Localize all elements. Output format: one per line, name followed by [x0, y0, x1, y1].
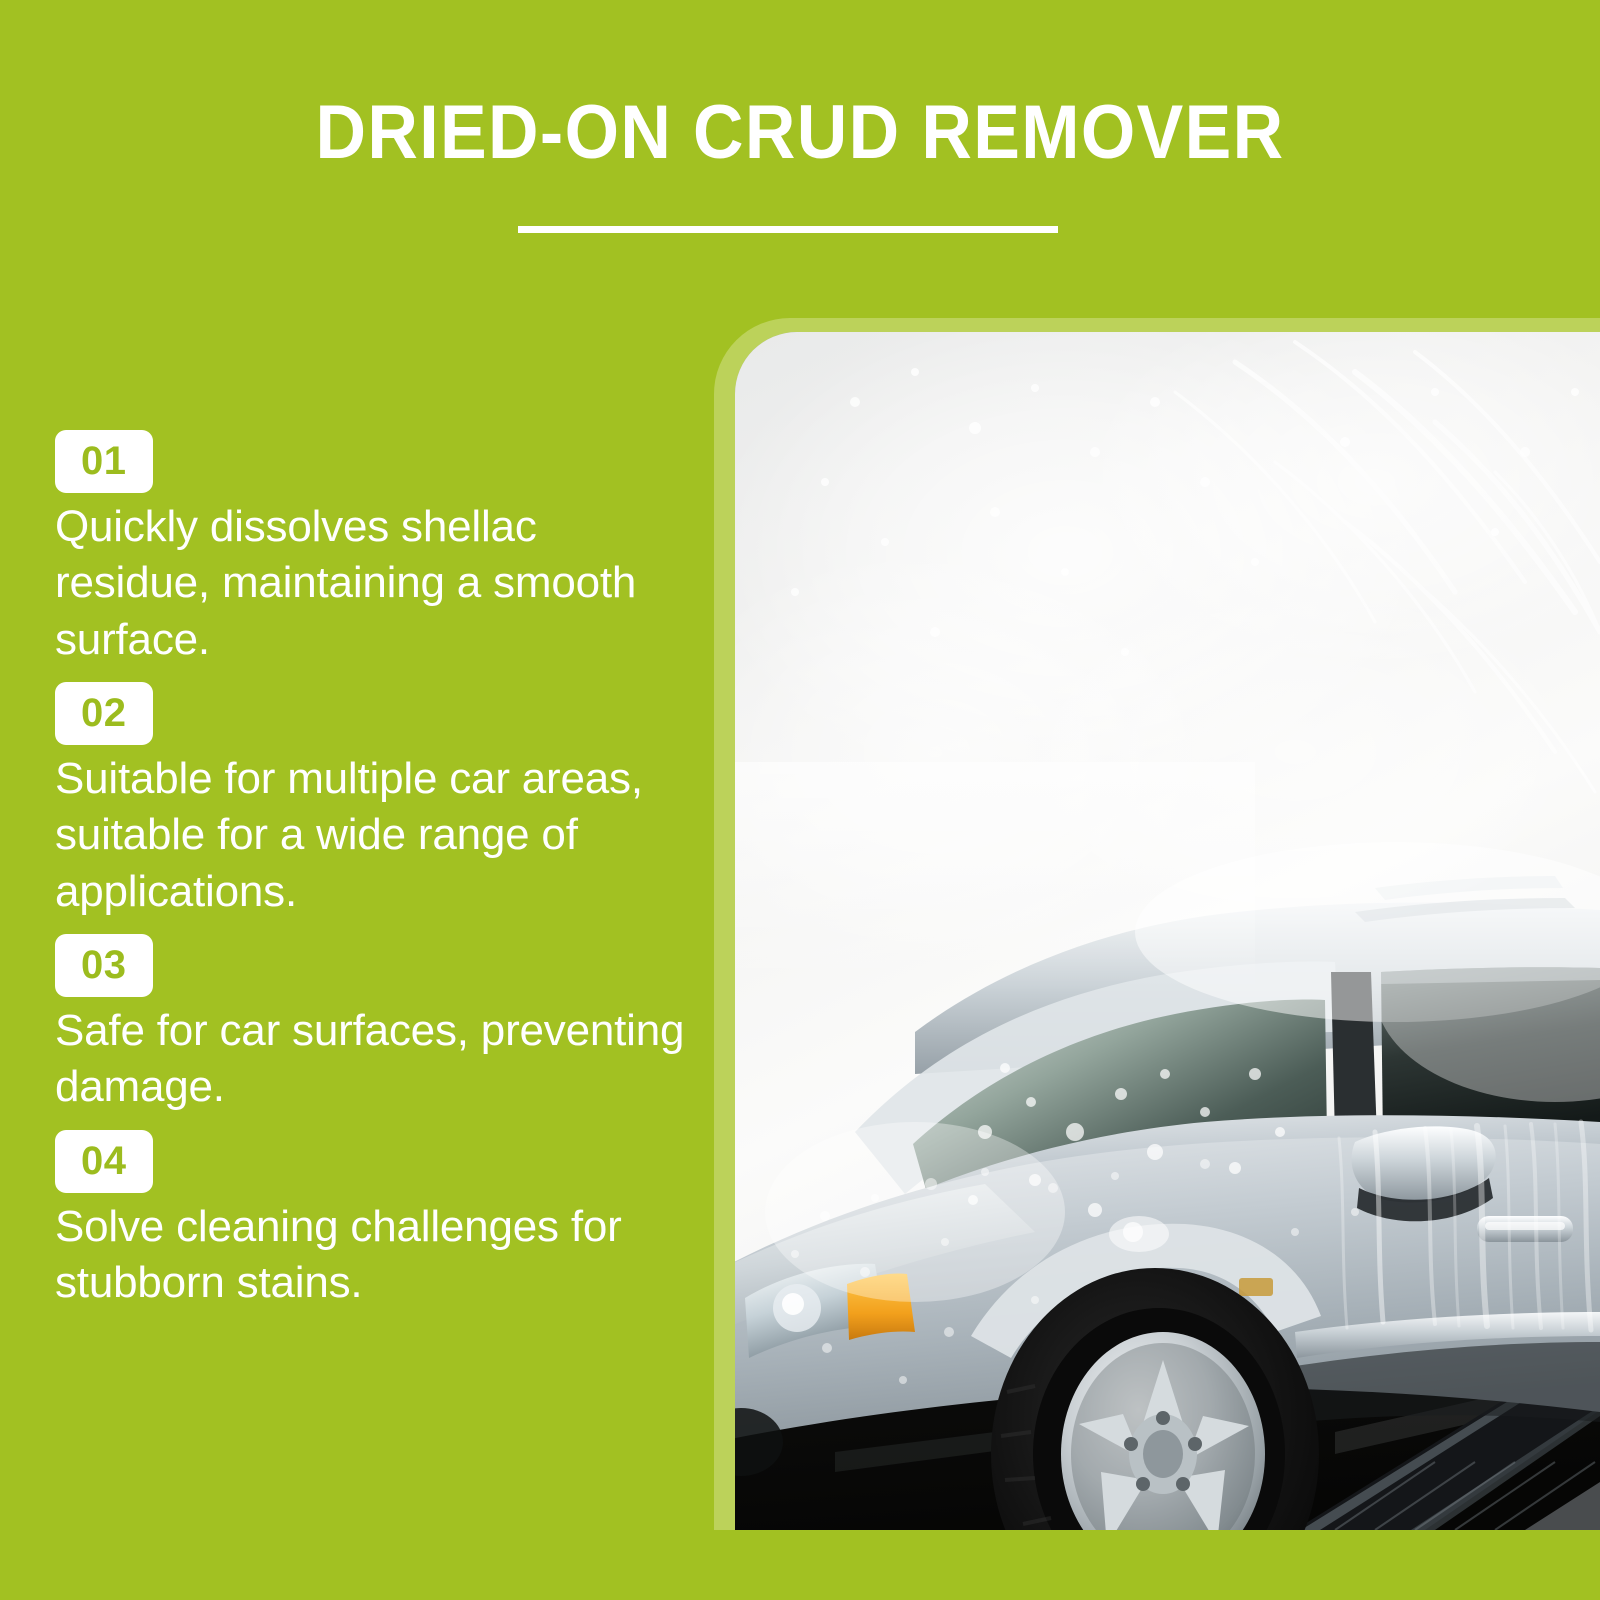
- feature-description: Suitable for multiple car areas, suitabl…: [55, 751, 700, 920]
- list-item: 04 Solve cleaning challenges for stubbor…: [55, 1130, 705, 1312]
- feature-description: Quickly dissolves shellac residue, maint…: [55, 499, 700, 668]
- title-divider: [518, 226, 1058, 233]
- feature-number-badge: 04: [55, 1130, 153, 1193]
- car-wash-illustration: [735, 332, 1600, 1530]
- feature-number-badge: 03: [55, 934, 153, 997]
- feature-description: Safe for car surfaces, preventing damage…: [55, 1003, 700, 1116]
- list-item: 01 Quickly dissolves shellac residue, ma…: [55, 430, 705, 668]
- poster-canvas: DRIED-ON CRUD REMOVER 01 Quickly dissolv…: [0, 0, 1600, 1600]
- feature-number-badge: 01: [55, 430, 153, 493]
- list-item: 02 Suitable for multiple car areas, suit…: [55, 682, 705, 920]
- page-title: DRIED-ON CRUD REMOVER: [64, 95, 1536, 171]
- poster-header: DRIED-ON CRUD REMOVER: [0, 0, 1600, 300]
- car-wash-photo: [735, 332, 1600, 1530]
- feature-number-badge: 02: [55, 682, 153, 745]
- feature-list: 01 Quickly dissolves shellac residue, ma…: [55, 430, 705, 1325]
- list-item: 03 Safe for car surfaces, preventing dam…: [55, 934, 705, 1116]
- feature-description: Solve cleaning challenges for stubborn s…: [55, 1199, 700, 1312]
